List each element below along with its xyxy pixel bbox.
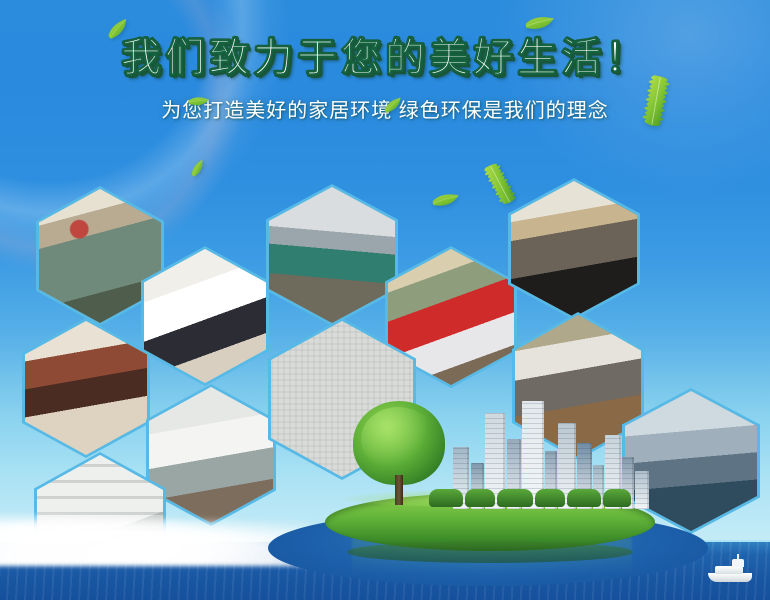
leaf-far-left-icon (178, 152, 218, 186)
bush-3 (497, 489, 533, 507)
hex-wood-railing[interactable] (22, 318, 150, 458)
bush-6 (603, 489, 631, 507)
hex-photo (25, 321, 147, 455)
bush-4 (535, 489, 565, 507)
hex-duct-cleaning[interactable] (266, 184, 398, 326)
cloud-bank (0, 506, 310, 566)
hex-stair-cleaning[interactable] (141, 246, 269, 386)
tree-crown (353, 401, 445, 485)
hex-photo (144, 249, 266, 383)
green-city-island (325, 415, 655, 565)
tree-icon (353, 401, 445, 505)
building-12 (635, 471, 649, 509)
boat-mast (737, 554, 739, 560)
leaf-left-long-icon (412, 181, 478, 221)
boat-deck (715, 566, 743, 574)
hex-range-hood[interactable] (508, 178, 640, 320)
boat-icon (708, 556, 752, 582)
hex-photo (149, 387, 273, 523)
hex-photo (511, 181, 637, 317)
hex-photo (269, 187, 395, 323)
bush-5 (567, 489, 601, 507)
headline-block: 我们致力于您的美好生活！ 为您打造美好的家居环境 绿色环保是我们的理念 (0, 34, 770, 123)
island-soil (347, 541, 633, 563)
tree-trunk (395, 475, 403, 505)
page-subtitle: 为您打造美好的家居环境 绿色环保是我们的理念 (0, 94, 770, 123)
boat-cabin (732, 559, 744, 567)
boat-hull (708, 573, 752, 582)
promo-banner: 我们致力于您的美好生活！ 为您打造美好的家居环境 绿色环保是我们的理念 (0, 0, 770, 600)
page-title: 我们致力于您的美好生活！ (0, 34, 770, 82)
bush-2 (465, 489, 495, 507)
